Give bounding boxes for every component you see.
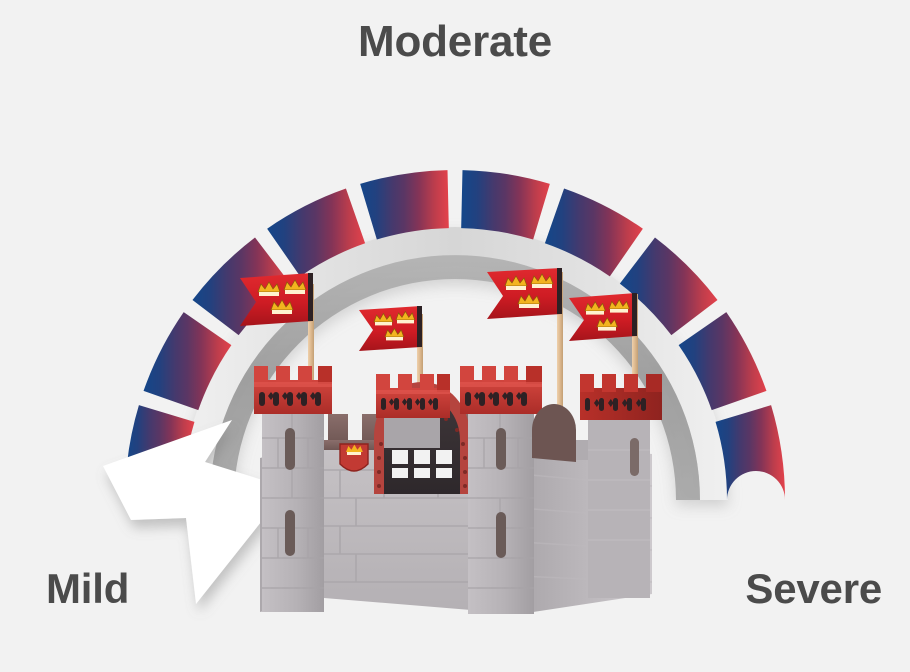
flag-edge-3 (557, 268, 562, 314)
tower-4-window (630, 438, 639, 476)
gauge-label-mild: Mild (46, 565, 129, 613)
gauge-label-moderate: Moderate (0, 16, 910, 68)
tower-3 (460, 366, 542, 614)
tower-4-top (580, 374, 662, 420)
castle-illustration (232, 262, 684, 622)
tower-3-window-lower (496, 512, 506, 558)
flag-banner-4 (569, 293, 636, 341)
tower-1-top (254, 366, 332, 414)
flag-edge-1 (308, 273, 313, 321)
tower-1 (254, 366, 332, 612)
inner-arch-right (532, 404, 576, 462)
tower-3-top (460, 366, 542, 414)
flag-banner-2 (359, 306, 421, 351)
tower-1-window-lower (285, 510, 295, 556)
flag-edge-4 (632, 293, 637, 336)
flag-banner-1 (240, 273, 312, 326)
shield-left (340, 444, 368, 471)
flag-edge-2 (417, 306, 422, 347)
tower-3-window-upper (496, 428, 506, 470)
castle-body (254, 366, 662, 614)
tower-1-window-upper (285, 428, 295, 470)
tower-2-top (376, 374, 450, 418)
gauge-label-severe: Severe (745, 565, 882, 613)
gauge-infographic: Moderate Mild Severe (0, 0, 910, 672)
